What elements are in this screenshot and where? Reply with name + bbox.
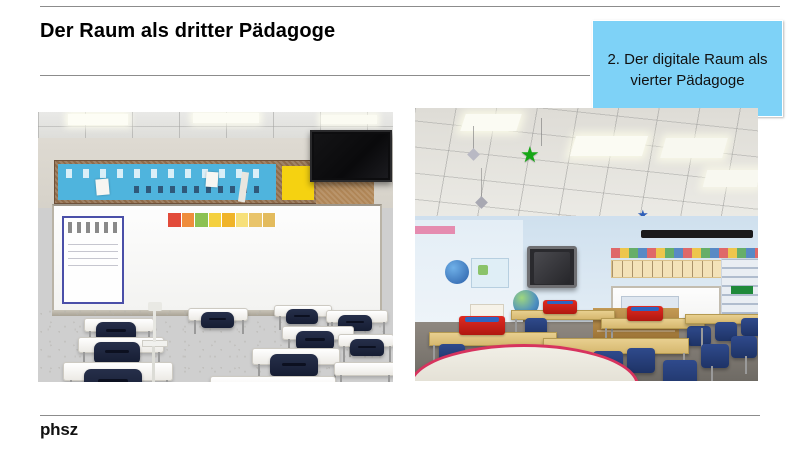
schedule-heading [68,222,118,233]
pink-wall-strip [415,226,455,234]
pinned-note [205,172,218,188]
presentation-slide: Der Raum als dritter Pädagoge 2. Der dig… [0,0,800,450]
student-chair [270,354,318,376]
footer-logo: phsz [40,420,78,440]
red-supply-bin [459,316,505,335]
student-chair [741,318,758,336]
ceiling-light [460,114,522,131]
alphabet-strip [611,248,758,258]
pinned-note [95,178,109,195]
student-chair [627,348,655,373]
cart-pole [153,310,156,342]
ceiling-light [660,138,728,158]
hanging-string [473,126,474,150]
hanging-string [541,118,542,146]
ceiling-light [193,113,259,123]
crt-television [527,246,577,288]
student-chair [663,360,697,381]
bulletin-letters [66,169,264,178]
ceiling-light [570,136,648,156]
display-screen [314,134,388,178]
student-chair [84,369,142,382]
student-chair [701,344,729,368]
divider-middle [40,75,590,76]
student-desk [334,362,393,376]
divider-bottom [40,415,760,416]
student-chair [687,326,711,346]
cart-stem [152,346,155,382]
schedule-lines [68,240,118,266]
student-chair [296,331,334,349]
ceiling-light [321,115,377,124]
wall-poster [471,258,509,288]
divider-top [40,6,780,7]
classroom-photo-left [38,112,393,382]
red-supply-bin [543,300,577,314]
cart-device [148,302,162,311]
hanging-string [481,168,482,198]
wall-rail [641,230,753,238]
classroom-photo-right: ★ ★ [415,108,758,381]
student-chair [731,336,757,358]
agenda-callout-text: 2. Der digitale Raum als vierter Pädagog… [601,49,774,91]
red-supply-bin [627,306,663,321]
student-chair [286,309,318,324]
color-swatch-strip [168,213,276,227]
blue-ball [445,260,469,284]
student-chair [94,342,140,363]
agenda-callout-box[interactable]: 2. Der digitale Raum als vierter Pädagog… [592,20,783,117]
page-title: Der Raum als dritter Pädagoge [40,18,580,44]
green-label [731,286,753,294]
student-chair [350,339,384,356]
ceiling-light [703,170,758,187]
ceiling-light [68,114,128,125]
student-desk [210,376,336,382]
student-chair [201,312,234,328]
